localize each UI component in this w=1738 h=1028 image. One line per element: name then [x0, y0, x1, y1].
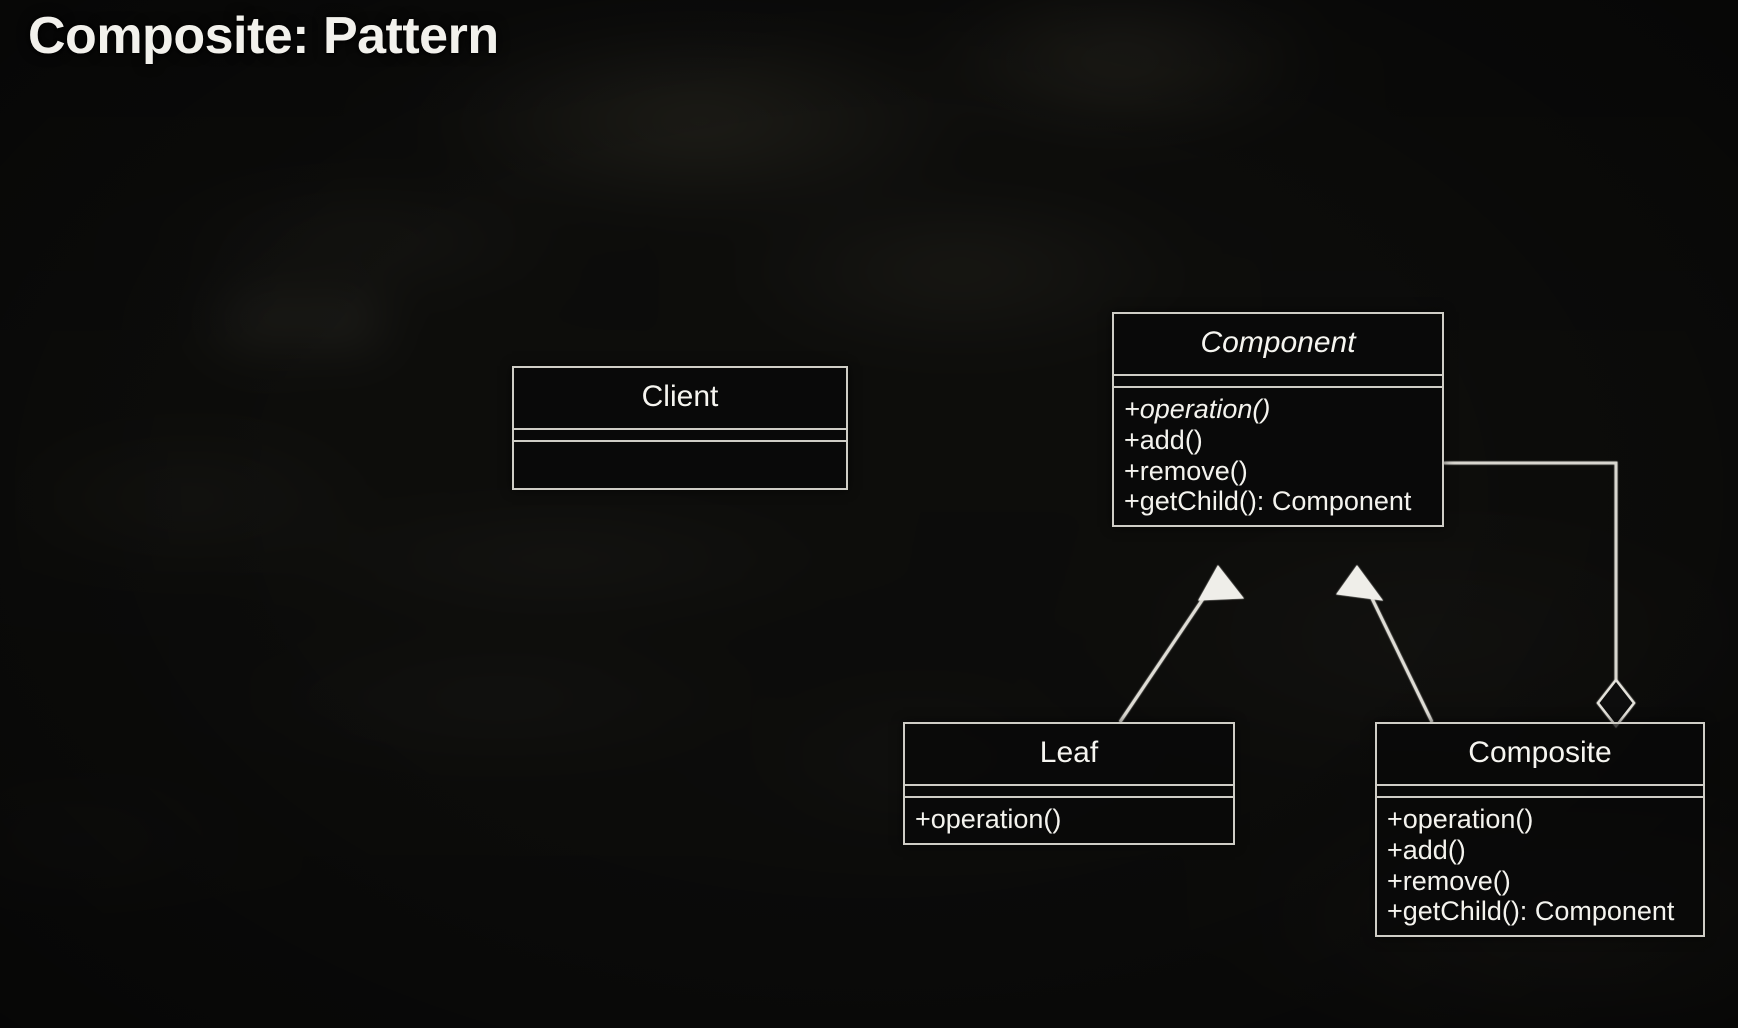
operation-item: +getChild(): Component [1124, 486, 1442, 517]
class-box-component[interactable]: Component +operation() +add() +remove() … [1112, 312, 1444, 527]
class-name-leaf: Leaf [905, 724, 1233, 784]
operation-item: +add() [1387, 835, 1703, 866]
operations-compartment-leaf: +operation() [905, 798, 1233, 843]
operation-item: +add() [1124, 425, 1442, 456]
page-title: Composite: Pattern [28, 6, 499, 66]
attributes-compartment-leaf [905, 786, 1233, 796]
class-box-composite[interactable]: Composite +operation() +add() +remove() … [1375, 722, 1705, 937]
class-name-client: Client [514, 368, 846, 428]
operations-compartment-client [514, 442, 846, 488]
attributes-compartment-composite [1377, 786, 1703, 796]
class-box-client[interactable]: Client [512, 366, 848, 490]
operation-item: +operation() [915, 804, 1233, 835]
attributes-compartment-component [1114, 376, 1442, 386]
slide-canvas: Composite: Pattern Clien [0, 0, 1738, 1028]
operations-compartment-component: +operation() +add() +remove() +getChild(… [1114, 388, 1442, 525]
operations-compartment-composite: +operation() +add() +remove() +getChild(… [1377, 798, 1703, 935]
class-name-composite: Composite [1377, 724, 1703, 784]
class-name-component: Component [1114, 314, 1442, 374]
operation-item: +remove() [1387, 866, 1703, 897]
operation-item: +operation() [1124, 394, 1442, 425]
class-box-leaf[interactable]: Leaf +operation() [903, 722, 1235, 845]
attributes-compartment-client [514, 430, 846, 440]
operation-item: +operation() [1387, 804, 1703, 835]
operation-item: +remove() [1124, 456, 1442, 487]
operation-item: +getChild(): Component [1387, 896, 1703, 927]
